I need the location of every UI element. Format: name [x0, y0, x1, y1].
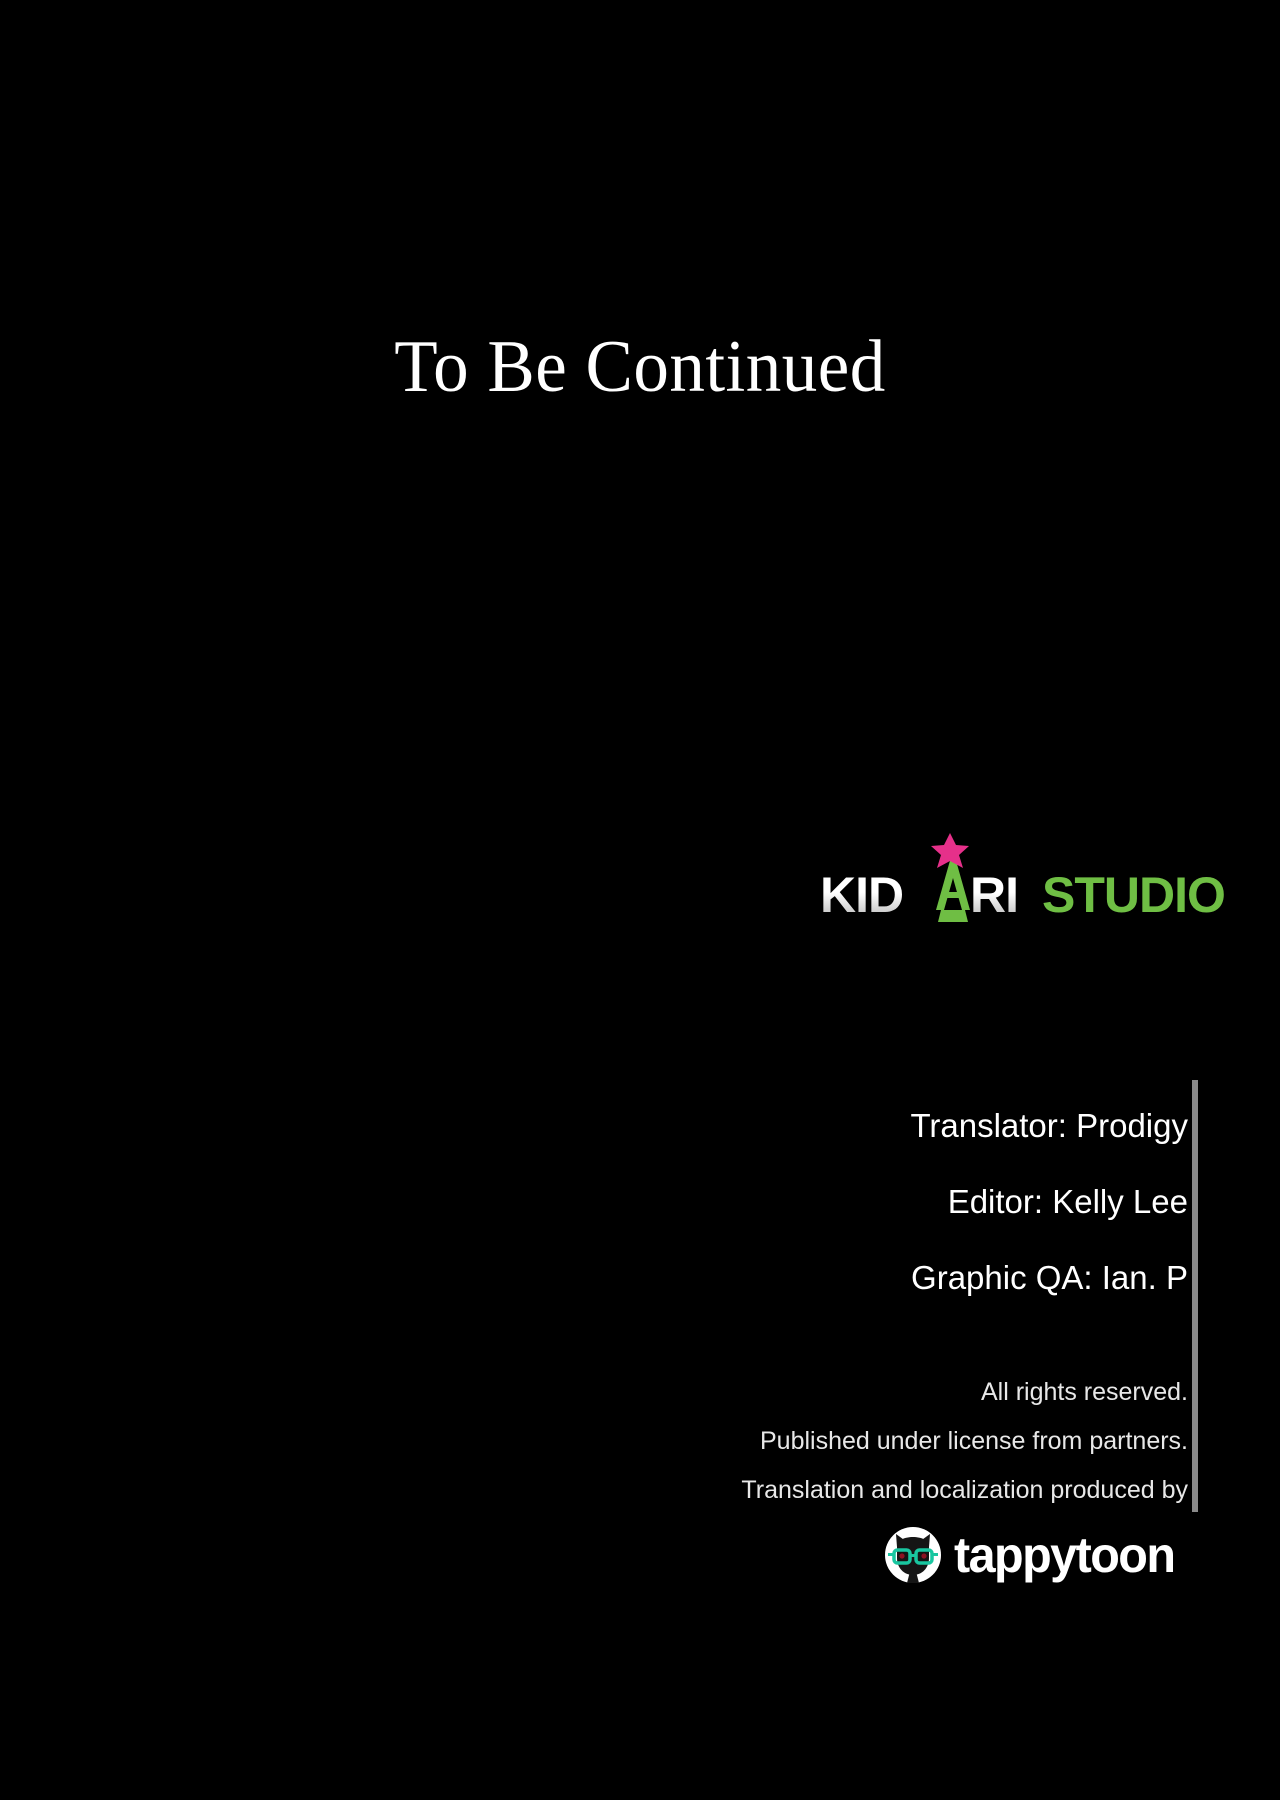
credits-divider: [1192, 1080, 1198, 1512]
rights-notice: All rights reserved. Published under lic…: [428, 1368, 1188, 1515]
credit-editor: Editor: Kelly Lee: [548, 1164, 1188, 1240]
kidari-logo-text-kid: KID: [820, 870, 903, 920]
tappytoon-cat-icon: [884, 1526, 942, 1584]
page-title: To Be Continued: [26, 330, 1255, 404]
credit-graphic-qa: Graphic QA: Ian. P: [548, 1240, 1188, 1316]
tappytoon-logo: tappytoon: [884, 1524, 1192, 1586]
kidari-logo-text-ri: RI: [970, 870, 1018, 920]
rights-line-localization: Translation and localization produced by: [428, 1466, 1188, 1515]
kidari-logo-text-studio: STUDIO: [1042, 870, 1225, 920]
end-card-page: To Be Continued KID RI STUDIO Translator…: [0, 0, 1280, 1800]
kidari-studio-logo: KID RI STUDIO: [820, 836, 1188, 922]
rights-line-license: Published under license from partners.: [428, 1417, 1188, 1466]
tappytoon-wordmark: tappytoon: [954, 1524, 1174, 1586]
kidari-studio-wordmark: KID RI STUDIO: [820, 836, 1188, 922]
credit-translator: Translator: Prodigy: [548, 1088, 1188, 1164]
kidari-star-icon: [930, 832, 970, 870]
staff-credits: Translator: Prodigy Editor: Kelly Lee Gr…: [548, 1088, 1188, 1316]
rights-line-all-rights: All rights reserved.: [428, 1368, 1188, 1417]
